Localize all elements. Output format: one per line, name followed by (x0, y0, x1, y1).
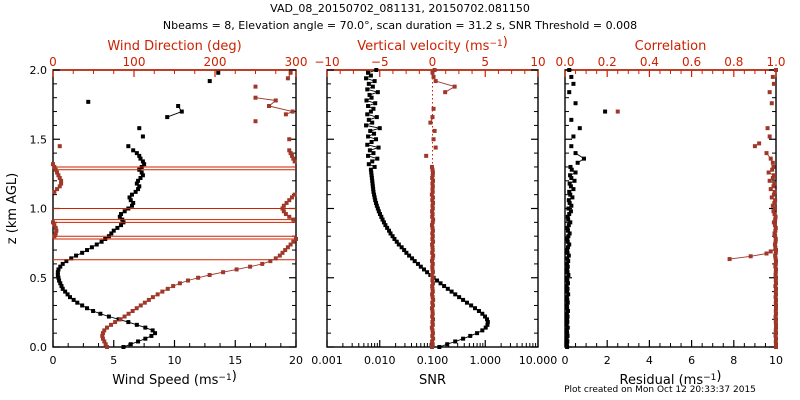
top-x-tick-label: 0 (429, 55, 437, 69)
top-x-tick-label: −5 (371, 55, 389, 69)
top-x-tick-label: 0 (49, 55, 57, 69)
sparse-data-marker (768, 134, 772, 138)
top-x-tick-label: 0.2 (598, 55, 617, 69)
sparse-data-marker (569, 75, 573, 79)
sparse-data-marker (433, 129, 437, 133)
sparse-data-marker (289, 71, 293, 75)
sparse-data-marker (571, 82, 575, 86)
data-marker (121, 345, 125, 349)
top-x-tick-label: 300 (285, 55, 308, 69)
x-tick-label: 5 (110, 354, 117, 367)
sparse-data-marker (432, 137, 436, 141)
sparse-data-marker (578, 126, 582, 130)
x-axis-title: SNR (419, 373, 446, 388)
data-marker (769, 249, 773, 253)
top-axis-title: Wind Direction (deg) (107, 39, 241, 54)
sparse-data-marker (432, 107, 436, 111)
plot-frame (565, 70, 776, 347)
series-vertical-velocity (424, 68, 456, 349)
sparse-line (445, 87, 455, 93)
sparse-data-marker (768, 90, 772, 94)
sparse-data-marker (574, 101, 578, 105)
x-axis-title: Wind Speed (ms−1) (112, 369, 237, 388)
top-x-tick-label: 100 (123, 55, 146, 69)
sparse-data-marker (569, 144, 573, 148)
sparse-line (167, 112, 182, 118)
y-axis-title: z (km AGL) (5, 173, 20, 244)
sparse-line (256, 98, 276, 101)
sparse-data-marker (571, 134, 575, 138)
sparse-data-marker (428, 121, 432, 125)
sparse-data-marker (126, 144, 130, 148)
sparse-data-marker (424, 154, 428, 158)
data-marker (51, 162, 55, 166)
x-tick-label: 10 (168, 354, 182, 367)
sparse-line (576, 153, 585, 159)
sparse-data-marker (443, 90, 447, 94)
profile-line (102, 239, 296, 347)
x-tick-label: 10 (769, 354, 783, 367)
y-tick-label: 1.5 (30, 133, 48, 146)
x-tick-label: 1.000 (470, 354, 502, 367)
sparse-data-marker (86, 100, 90, 104)
y-tick-label: 0.5 (30, 272, 48, 285)
sparse-data-marker (766, 126, 770, 130)
x-tick-label: 6 (688, 354, 695, 367)
x-tick-label: 2 (604, 354, 611, 367)
sparse-data-marker (616, 110, 620, 114)
y-tick-label: 2.0 (30, 64, 48, 77)
x-tick-label: 0 (562, 354, 569, 367)
top-x-tick-label: 1.0 (766, 55, 785, 69)
x-tick-label: 0.001 (311, 354, 343, 367)
sparse-data-marker (771, 161, 775, 165)
sparse-data-marker (137, 126, 141, 130)
sparse-data-marker (254, 119, 258, 123)
sparse-data-marker (287, 137, 291, 141)
x-tick-label: 10.000 (519, 354, 558, 367)
sparse-data-marker (569, 118, 573, 122)
sparse-line (578, 159, 584, 163)
data-marker (437, 345, 441, 349)
sparse-line (269, 101, 276, 107)
x-tick-label: 4 (646, 354, 653, 367)
sparse-data-marker (567, 90, 571, 94)
panel-middle (327, 68, 538, 349)
y-tick-label: 1.0 (30, 203, 48, 216)
sparse-data-marker (58, 144, 62, 148)
top-x-tick-label: 0.6 (682, 55, 701, 69)
sparse-data-marker (434, 146, 438, 150)
sparse-line (436, 81, 455, 87)
series-correlation (616, 68, 778, 349)
sparse-data-marker (431, 115, 435, 119)
panel-right (565, 68, 778, 349)
top-x-tick-label: 0.8 (724, 55, 743, 69)
sparse-data-marker (603, 110, 607, 114)
profile-line (371, 173, 488, 348)
x-tick-label: 8 (730, 354, 737, 367)
figure-root: VAD_08_20150702_081131, 20150702.081150 … (0, 0, 800, 400)
x-tick-label: 0.100 (417, 354, 449, 367)
top-x-tick-label: 5 (481, 55, 489, 69)
sparse-data-marker (772, 82, 776, 86)
top-axis-title: Correlation (635, 39, 707, 54)
y-tick-label: 0.0 (30, 341, 48, 354)
sparse-data-marker (216, 71, 220, 75)
top-x-tick-label: 0.0 (555, 55, 574, 69)
x-axis-title: Residual (ms−1) (620, 369, 722, 388)
sparse-line (269, 106, 293, 112)
panel-left (51, 70, 298, 349)
x-tick-label: 20 (289, 354, 303, 367)
x-tick-label: 0.010 (364, 354, 396, 367)
top-axis-title: Vertical velocity (ms−1) (357, 35, 508, 54)
top-x-tick-label: 200 (204, 55, 227, 69)
sparse-data-marker (208, 79, 212, 83)
series-snr (364, 68, 490, 349)
sparse-data-marker (286, 76, 290, 80)
sparse-data-marker (771, 75, 775, 79)
sparse-data-marker (254, 85, 258, 89)
sparse-line (767, 153, 771, 159)
x-tick-label: 15 (228, 354, 242, 367)
top-x-tick-label: 10 (530, 55, 545, 69)
sparse-data-marker (141, 134, 145, 138)
top-x-tick-label: −10 (314, 55, 339, 69)
sparse-data-marker (284, 112, 288, 116)
plot-canvas: 051015200100200300Wind Speed (ms−1)Wind … (0, 0, 800, 400)
sparse-data-marker (770, 101, 774, 105)
x-tick-label: 0 (50, 354, 57, 367)
top-x-tick-label: 0.4 (640, 55, 659, 69)
